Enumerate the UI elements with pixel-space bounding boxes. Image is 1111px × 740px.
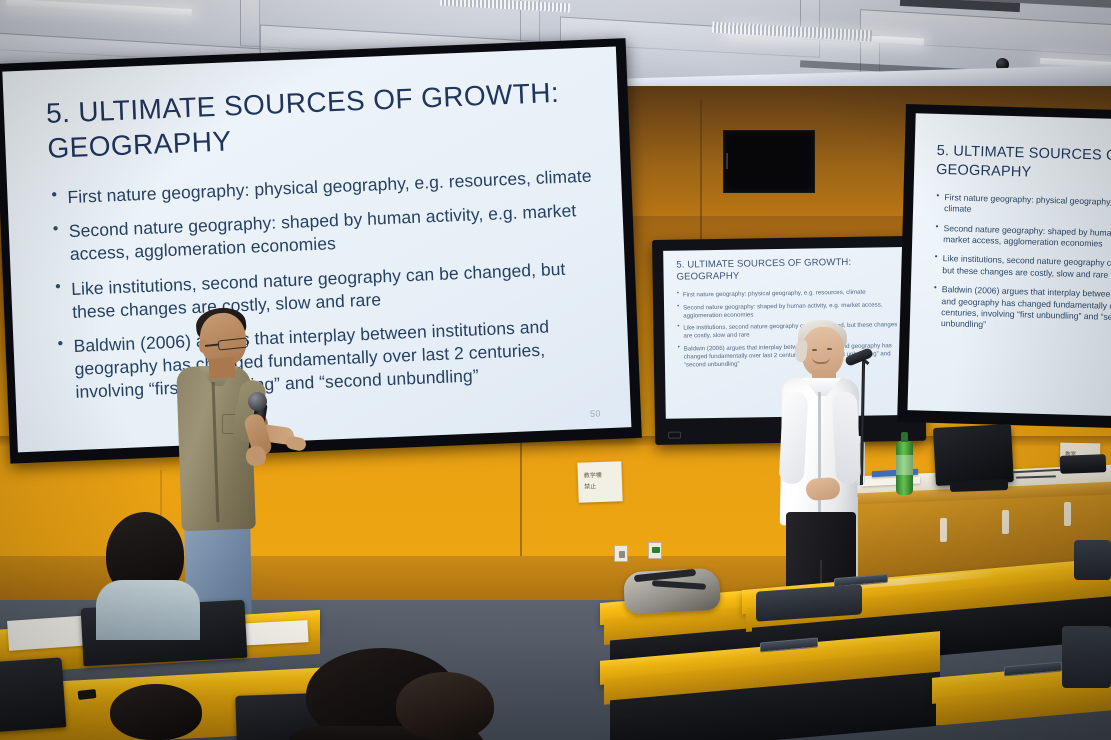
podium-device[interactable] (1060, 454, 1107, 474)
green-bottle[interactable] (896, 441, 913, 495)
ear (199, 340, 208, 353)
podium-vent (1064, 502, 1071, 526)
eye (812, 349, 817, 351)
left-arm (779, 391, 809, 484)
slide-bullet: Second nature geography: shaped by human… (50, 199, 599, 267)
wall-sign: 教学樓 禁止 (577, 461, 622, 503)
neck (208, 357, 235, 379)
slide-bullet: Baldwin (2006) argues that interplay bet… (932, 284, 1111, 336)
head (396, 672, 494, 740)
right-arm (832, 391, 862, 484)
right-wall-screen: 5. ULTIMATE SOURCES OF GROWTH: GEOGRAPHY… (897, 104, 1111, 428)
paper-sheets (7, 615, 93, 651)
mini-title-line-2: GEOGRAPHY (677, 268, 906, 284)
lecture-hall-photo: 5. ULTIMATE SOURCES OF GROWTH: GEOGRAPHY… (0, 0, 1111, 740)
shirt-placket (818, 392, 821, 520)
mini-bullet: Baldwin (2006) argues that interplay bet… (678, 342, 907, 370)
power-outlet[interactable] (648, 542, 662, 559)
shoulders (96, 580, 200, 640)
mini-bullet: Second nature geography: shaped by human… (677, 301, 906, 321)
chair-back (1074, 540, 1111, 580)
mini-bullet: Like institutions, second nature geograp… (677, 321, 906, 341)
head (110, 684, 202, 740)
screen-surface: 5. ULTIMATE SOURCES OF GROWTH: GEOGRAPHY… (2, 46, 631, 452)
slide-bullet: Second nature geography: shaped by human… (934, 223, 1111, 252)
main-projection-screen: 5. ULTIMATE SOURCES OF GROWTH: GEOGRAPHY… (0, 38, 642, 464)
slide-title: 5. ULTIMATE SOURCES OF GROWTH: GEOGRAPHY (936, 142, 1111, 186)
chair-back (1062, 626, 1111, 688)
slide-bullet: Like institutions, second nature geograp… (933, 253, 1111, 282)
mini-slide-title: 5. ULTIMATE SOURCES OF GROWTH: GEOGRAPHY (676, 256, 905, 285)
wall-seam (520, 440, 522, 560)
slide-content: 5. ULTIMATE SOURCES OF GROWTH: GEOGRAPHY… (45, 73, 607, 436)
phone[interactable] (78, 689, 97, 700)
slide-bullet: First nature geography: physical geograp… (935, 192, 1111, 221)
wall-sign-line-2: 禁止 (584, 481, 618, 493)
slide-bullet-list: First nature geography: physical geograp… (49, 164, 605, 404)
podium-vent (940, 518, 947, 542)
mini-bullet-list: First nature geography: physical geograp… (677, 288, 907, 370)
mic-hand (246, 446, 266, 466)
podium-monitor-base (950, 479, 1008, 492)
podium-vent (1002, 510, 1009, 534)
mini-bullet: First nature geography: physical geograp… (677, 288, 906, 300)
slide-bullet-list: First nature geography: physical geograp… (932, 192, 1111, 336)
wall-black-panel (723, 130, 815, 193)
screen-surface: 5. ULTIMATE SOURCES OF GROWTH: GEOGRAPHY… (907, 113, 1111, 416)
eye (827, 348, 832, 350)
monitor-logo (668, 432, 681, 439)
slide-title: 5. ULTIMATE SOURCES OF GROWTH: GEOGRAPHY (45, 73, 595, 166)
clasped-hands (805, 477, 840, 501)
slide-content: 5. ULTIMATE SOURCES OF GROWTH: GEOGRAPHY… (930, 142, 1111, 410)
laptop[interactable] (0, 657, 66, 732)
slide-bullet: Like institutions, second nature geograp… (53, 256, 602, 324)
podium-monitor[interactable] (933, 424, 1014, 486)
slide-number: 50 (590, 408, 601, 418)
slide-bullet: Baldwin (2006) argues that interplay bet… (55, 314, 605, 405)
power-outlet[interactable] (614, 545, 628, 562)
microphone-head-icon (248, 392, 267, 411)
